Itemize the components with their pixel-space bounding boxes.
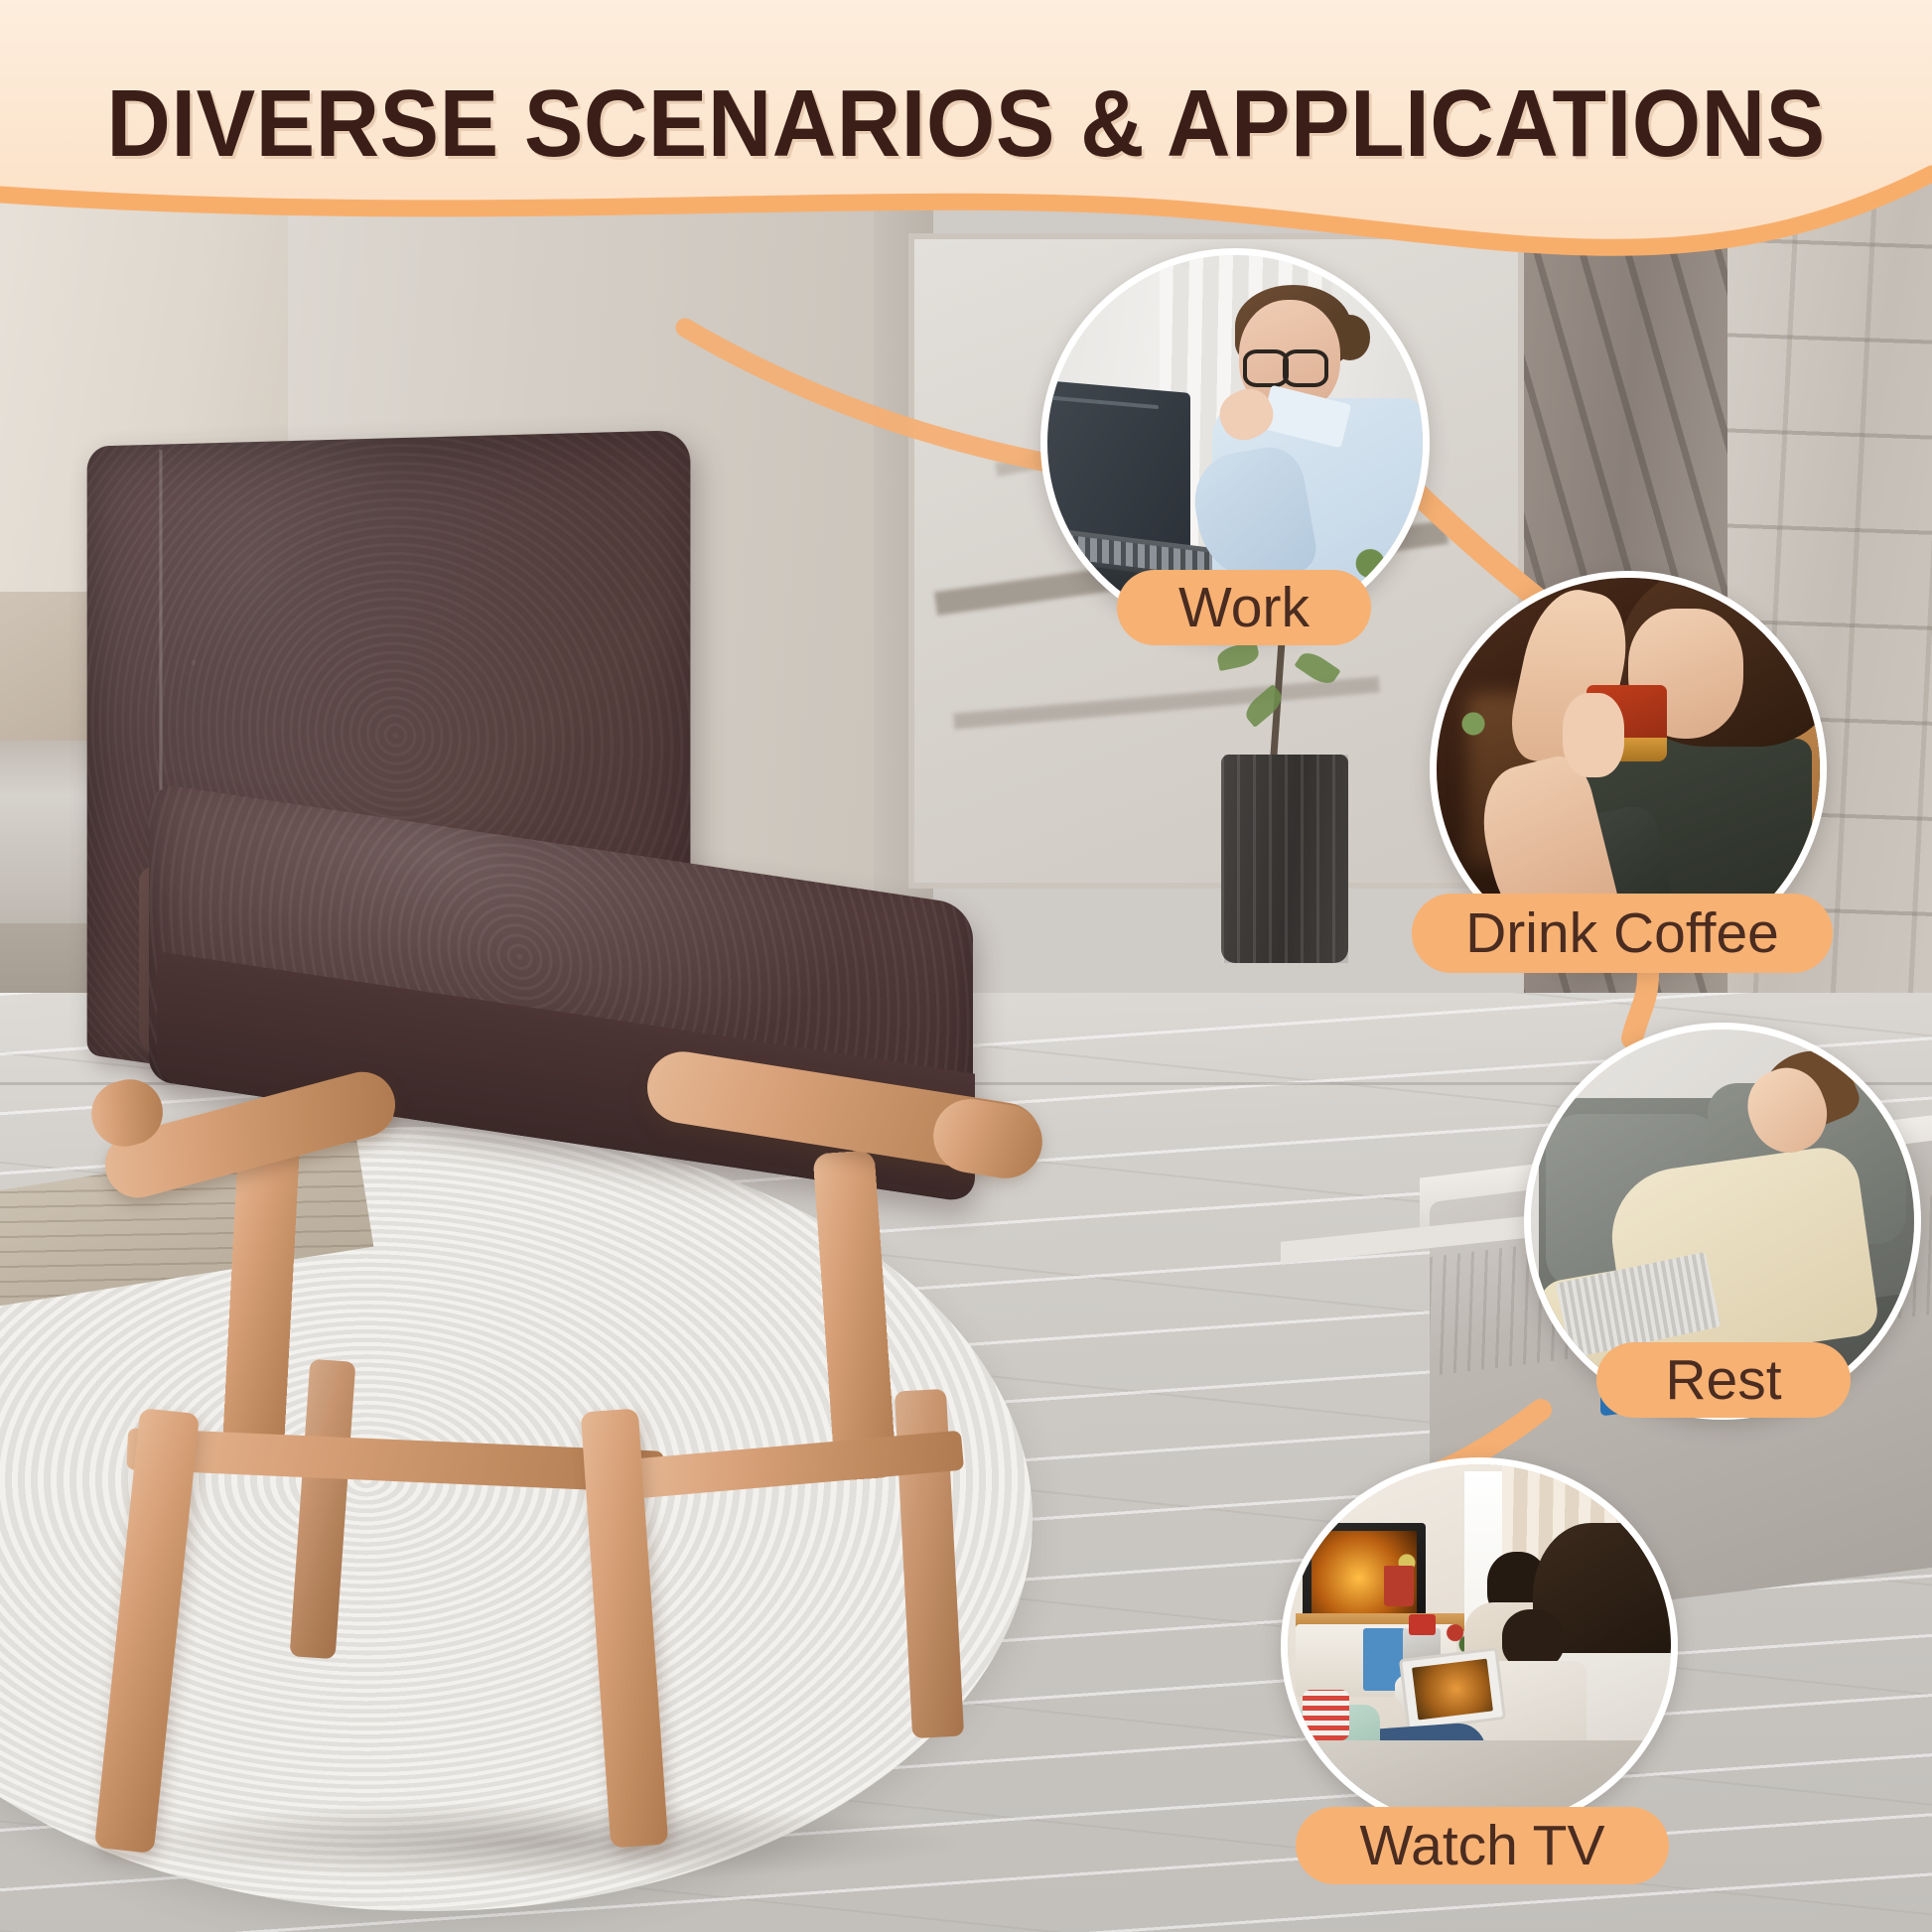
- accent-armchair: [40, 417, 1062, 1708]
- chair-shadow: [97, 1802, 971, 1881]
- scenario-label-watch-tv[interactable]: Watch TV: [1296, 1807, 1669, 1884]
- chair-back-left-leg: [290, 1359, 356, 1659]
- page-title: DIVERSE SCENARIOS & APPLICATIONS: [68, 69, 1864, 179]
- scenario-label-work[interactable]: Work: [1117, 570, 1371, 645]
- scenario-label-rest[interactable]: Rest: [1596, 1342, 1851, 1418]
- scenario-photo-watch-tv: [1281, 1457, 1678, 1835]
- chair-left-post: [221, 1131, 300, 1461]
- chair-right-post: [813, 1150, 897, 1481]
- header-banner: DIVERSE SCENARIOS & APPLICATIONS: [0, 0, 1932, 328]
- scenario-label-drink-coffee[interactable]: Drink Coffee: [1412, 894, 1833, 973]
- product-marketing-image: Work Drink Coffee Rest: [0, 0, 1932, 1932]
- plant-pot: [1221, 755, 1348, 963]
- watch-tv-photo: [1288, 1464, 1671, 1828]
